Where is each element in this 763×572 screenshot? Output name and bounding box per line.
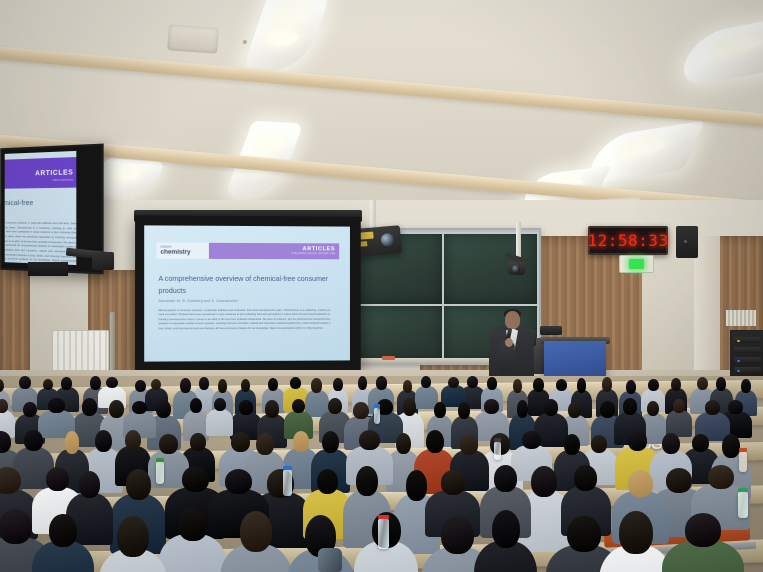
bottle-cap — [156, 458, 164, 462]
audience-member-head — [231, 432, 250, 452]
audience-member-head — [533, 378, 543, 392]
audience-member-head — [159, 434, 177, 454]
audience-member-head — [568, 402, 581, 418]
audience-member-head — [492, 510, 520, 549]
audience-member-head — [95, 430, 112, 453]
audience-member-head — [666, 468, 693, 493]
audience-member-head — [90, 376, 101, 390]
audience-member-head — [441, 516, 474, 555]
audience-member-head — [125, 430, 141, 451]
audience-member-head — [544, 399, 559, 416]
camera-mount-pole — [516, 222, 521, 260]
slide-journal-header: nature chemistry ARTICLES PUBLISHED ONLI… — [156, 243, 339, 260]
audience-member-head — [697, 377, 708, 391]
audience-member-head — [132, 401, 147, 415]
audience-member-head — [376, 376, 387, 390]
audience-member-head — [716, 377, 726, 391]
water-bottle — [494, 442, 501, 460]
audience-member-head — [135, 380, 146, 392]
audience-member-head — [484, 399, 500, 414]
slide-title: A comprehensive overview of chemical-fre… — [158, 273, 333, 296]
ceiling-sensor-icon — [243, 40, 247, 44]
audience-member-head — [460, 434, 478, 455]
audience-member-head — [577, 378, 586, 393]
audience-member-head — [722, 434, 740, 458]
journal-logo: nature chemistry — [156, 243, 209, 259]
audience-member-head — [156, 400, 171, 418]
audience-member-head — [487, 377, 497, 390]
audience-member-head — [109, 400, 124, 418]
audience-member-head — [61, 377, 72, 390]
water-bottle — [283, 470, 292, 496]
audience-member-head — [0, 509, 32, 544]
ceiling-light-fixture — [675, 15, 763, 89]
audience-member-head — [600, 401, 615, 418]
audience-member-head — [240, 511, 272, 551]
water-bottle — [739, 452, 747, 472]
monitor-title-text: of chemical-free — [5, 198, 77, 207]
water-bottle — [374, 408, 380, 424]
monitor-section-label: ARTICLES — [35, 169, 73, 177]
bottle-cap — [739, 448, 747, 452]
wall-vent-icon — [726, 310, 756, 326]
slide-authors: Alexander M. R. Goldberg and S. Gharasha… — [158, 299, 333, 303]
slide-abstract: Misconceptions of consumer products, in … — [158, 309, 330, 332]
audience-member-head — [218, 379, 227, 393]
audience-member-head — [46, 467, 69, 491]
audience-member-head — [199, 377, 208, 389]
audience-member-head — [241, 379, 250, 392]
audience-member-head — [180, 378, 191, 393]
chalk-eraser — [382, 356, 395, 360]
audience-member-head — [65, 431, 80, 453]
bottle-cap — [283, 466, 292, 470]
audience-member-head — [126, 469, 151, 500]
audience-member-head — [19, 376, 31, 389]
audience-member-head — [353, 402, 368, 420]
digital-clock: 12:58:33 — [588, 226, 668, 255]
audience-member-head — [0, 399, 8, 413]
audience-member-head — [239, 400, 254, 415]
audience-member-head — [602, 377, 612, 391]
audience-member-head — [628, 430, 648, 452]
audience-member-head — [117, 516, 148, 558]
audience-member-head — [317, 469, 339, 495]
audience-member-head — [647, 401, 659, 417]
monitor-abstract-text: Misconceptions of consumer products, in … — [5, 221, 77, 265]
audience-member-head — [311, 378, 322, 392]
audience-member-head — [662, 433, 681, 455]
av-control-box — [92, 252, 114, 270]
monitor-header-band: ARTICLES nature.com/nchem — [5, 157, 77, 189]
audience-member-head — [708, 465, 734, 489]
journal-section-label: ARTICLES — [303, 246, 336, 252]
audience-member-head — [522, 431, 540, 449]
projection-screen: nature chemistry ARTICLES PUBLISHED ONLI… — [135, 215, 361, 373]
audience-member-head — [728, 400, 743, 414]
rack-status-led — [737, 340, 740, 342]
audience-member-head — [628, 470, 653, 497]
audience-member-head — [396, 433, 411, 455]
exit-sign — [619, 255, 654, 273]
projector-mount-pole — [370, 200, 376, 230]
audience-member-head — [648, 379, 659, 391]
audience-member-head — [591, 435, 607, 453]
journal-section-sublabel: PUBLISHED ONLINE: NATURE.COM — [291, 253, 335, 255]
slide-surface: nature chemistry ARTICLES PUBLISHED ONLI… — [144, 225, 350, 361]
monitor-mount — [28, 262, 68, 276]
wall-speaker-icon — [676, 226, 698, 258]
audience-member-head — [268, 378, 278, 391]
desk-device — [540, 326, 562, 335]
audience-member-head — [178, 508, 208, 541]
projector-lens-icon — [380, 233, 394, 247]
audience-member-head — [458, 402, 470, 419]
audience-member-head — [494, 465, 517, 492]
ceiling-vent-icon — [167, 24, 219, 53]
bottle-cap — [378, 515, 389, 519]
speaker-indicator — [684, 240, 687, 243]
audience-member-head — [106, 377, 118, 388]
audience-member-head — [356, 466, 378, 496]
camera-lens-icon — [512, 265, 520, 273]
presenter-head — [505, 311, 520, 329]
audience-member-head — [43, 379, 53, 390]
audience-member-head — [673, 399, 685, 413]
audience-member-head — [671, 378, 681, 391]
wall-column — [694, 236, 720, 386]
chalkboard-panel — [356, 304, 444, 363]
audience-member-head — [403, 398, 416, 416]
audience-member-head — [705, 400, 720, 415]
monitor-section-sublabel: nature.com/nchem — [52, 178, 73, 181]
audience-member-torso — [206, 409, 233, 436]
water-bottle — [156, 462, 164, 484]
audience-member-head — [333, 378, 342, 391]
audience-member-head — [290, 377, 302, 389]
audience-member-head — [24, 430, 42, 451]
audience-member-head — [79, 471, 100, 498]
audience-member-head — [623, 398, 638, 415]
audience-member-head — [467, 376, 478, 388]
audience-member-head — [190, 398, 202, 414]
projector-label — [360, 232, 374, 240]
audience-member-head — [265, 400, 279, 417]
ceiling-wood-strip — [0, 44, 763, 130]
audience-member-head — [214, 398, 226, 412]
audience-member-head — [448, 377, 459, 388]
presenter-hand — [505, 338, 513, 347]
thermos-cup — [318, 548, 342, 572]
bottle-cap — [374, 404, 380, 408]
clock-time-display: 12:58:33 — [587, 231, 668, 250]
audience-member-head — [403, 380, 413, 393]
audience-member-head — [434, 402, 446, 419]
audience-member-head — [406, 470, 427, 501]
audience-member-head — [322, 431, 339, 454]
audience-member-head — [358, 376, 368, 390]
audience-member-head — [574, 465, 596, 491]
bottle-cap — [494, 438, 501, 442]
water-bottle — [738, 492, 748, 518]
audience-member-head — [48, 398, 64, 412]
audience-member-head — [426, 430, 444, 453]
journal-name-label: chemistry — [160, 249, 208, 256]
audience-member-head — [292, 399, 305, 414]
audience-member-head — [685, 513, 722, 547]
audience-member-head — [517, 400, 529, 418]
journal-section-band: ARTICLES PUBLISHED ONLINE: NATURE.COM — [209, 243, 339, 259]
ceiling-light-fixture — [242, 0, 329, 74]
audience-member-head — [513, 379, 522, 393]
audience-member-head — [359, 430, 380, 450]
audience-member-head — [293, 431, 309, 452]
audience-member-head — [190, 433, 205, 451]
rack-unit — [734, 347, 761, 353]
audience-member-head — [626, 380, 636, 394]
audience-member-head — [531, 466, 556, 497]
audience-member-head — [82, 398, 97, 416]
lecture-hall-photo: 12:58:33 nature chemistry ARTICLES PUBLI… — [0, 0, 763, 572]
audience-member-head — [556, 379, 567, 391]
audience-member-head — [328, 398, 342, 414]
audience-member-head — [692, 434, 709, 452]
audience-member-head — [441, 470, 465, 494]
audience-member-head — [567, 516, 600, 552]
audience-member-head — [0, 467, 21, 493]
audience-member-head — [49, 514, 76, 547]
audience-member-head — [225, 469, 252, 494]
bottle-cap — [738, 488, 748, 492]
audience-member-head — [182, 466, 209, 492]
audience-member-head — [564, 434, 580, 455]
audience-member-head — [619, 511, 652, 554]
rack-status-led — [737, 360, 740, 362]
audience-member-head — [23, 402, 36, 417]
water-bottle — [378, 519, 389, 549]
rack-status-led — [737, 370, 740, 372]
exit-sign-glyph — [629, 259, 644, 269]
audience-member-head — [741, 379, 751, 393]
audience-member-head — [256, 433, 274, 455]
